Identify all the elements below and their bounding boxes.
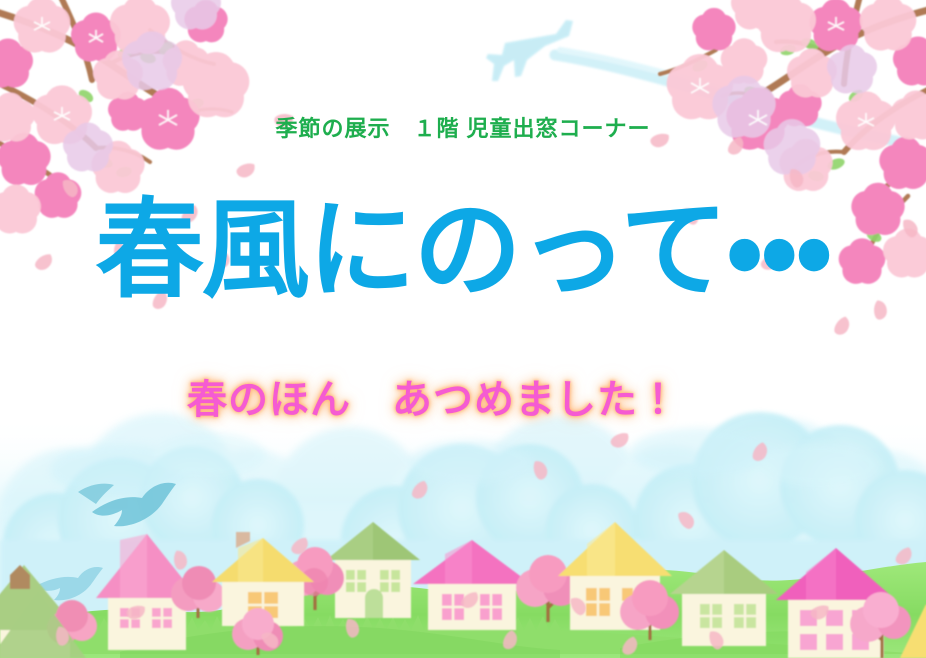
house-pink-roof-right xyxy=(776,548,896,658)
airplane-icon xyxy=(486,20,573,81)
background-scene xyxy=(0,0,926,658)
bird-icon xyxy=(36,567,103,600)
house-pink-roof-left xyxy=(96,534,198,650)
bird-icon xyxy=(78,483,176,526)
house-yellow-roof-right xyxy=(558,522,672,630)
exhibition-header-text: 季節の展示 １階 児童出窓コーナー xyxy=(0,111,926,143)
house-green-roof-mid xyxy=(326,522,420,618)
cherry-tree-icon xyxy=(171,566,225,618)
stamen-icon xyxy=(691,17,874,126)
tree-icon xyxy=(0,592,86,658)
house-green-roof-left xyxy=(0,565,78,658)
grass-hill xyxy=(0,562,926,658)
cherry-tree-icon xyxy=(232,608,283,655)
sky-wash xyxy=(0,415,926,658)
leaf-icon xyxy=(77,39,206,179)
house-green-roof-right xyxy=(670,550,778,646)
page-title: 春風にのって・・・ xyxy=(0,196,926,304)
cloud-icon xyxy=(0,413,926,658)
spring-exhibition-poster: 季節の展示 １階 児童出窓コーナー 春風にのって・・・ 春のほん あつめました！ xyxy=(0,0,926,658)
falling-petals xyxy=(0,0,926,658)
cloud-icon xyxy=(50,428,880,496)
cherry-tree-icon xyxy=(516,555,579,622)
sakura-branch-cluster-left xyxy=(0,0,926,658)
cherry-tree-icon xyxy=(285,547,344,610)
page-subtitle: 春のほん あつめました！ xyxy=(0,367,926,425)
sakura-branch-cluster-right xyxy=(0,0,926,658)
cherry-tree-icon xyxy=(620,580,679,640)
stamen-icon xyxy=(34,17,177,125)
house-yellow-roof-edge xyxy=(900,604,926,658)
branch-icon xyxy=(0,0,232,190)
sakura-flower-icon xyxy=(59,0,225,177)
cherry-tree-icon xyxy=(47,600,97,644)
house-pink-roof-mid xyxy=(413,540,531,630)
cherry-tree-icon xyxy=(850,592,911,658)
house-yellow-roof-mid xyxy=(212,532,314,626)
village-scene xyxy=(0,0,926,658)
airplane-scene xyxy=(0,0,926,658)
cloud-icon xyxy=(0,412,926,658)
